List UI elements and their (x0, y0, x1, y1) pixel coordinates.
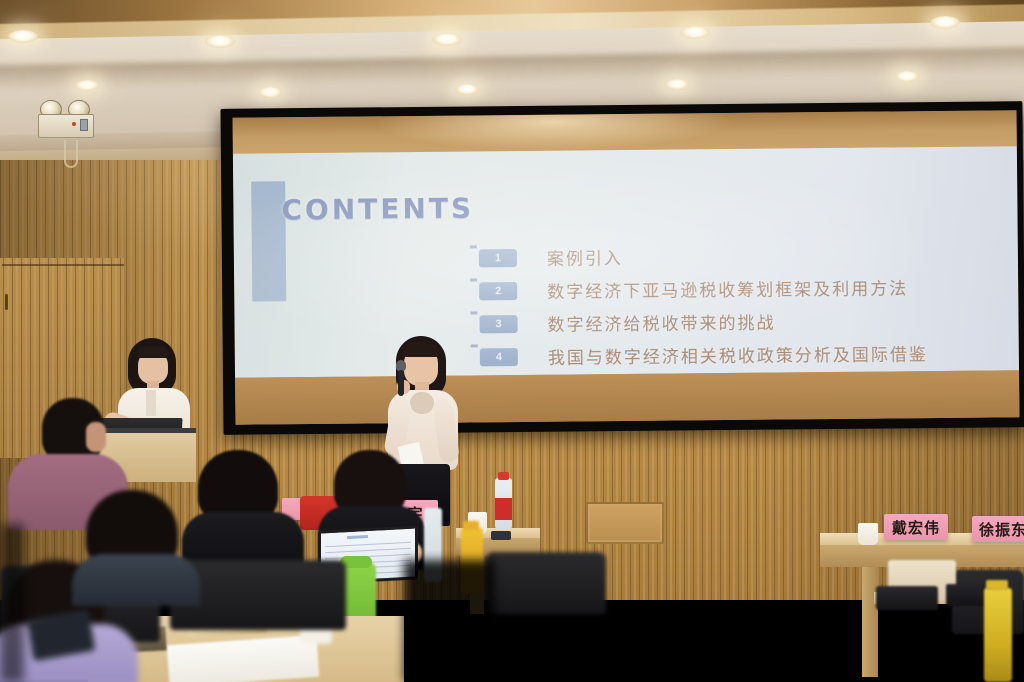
downlight-icon (75, 80, 99, 91)
emergency-test-switch[interactable] (80, 119, 88, 131)
tea-bottle-cap (986, 580, 1008, 590)
emergency-led-indicator (72, 122, 76, 126)
spreadsheet-header-cell (347, 535, 368, 539)
operator-placket (146, 390, 156, 416)
downlight-icon (930, 16, 960, 29)
slide-light-vignette (233, 146, 1019, 378)
equipment-case (876, 586, 938, 610)
door-handle[interactable] (5, 294, 8, 310)
paper-cup (858, 523, 878, 545)
chair[interactable] (486, 552, 606, 614)
slide-bottom-spill (235, 370, 1019, 425)
downlight-icon (895, 71, 919, 82)
name-card: 戴宏伟 (884, 514, 948, 540)
emergency-power-cord (64, 140, 78, 168)
microphone-handle (398, 370, 404, 396)
downlight-icon (432, 33, 462, 46)
water-bottle-cap (498, 472, 509, 480)
audience-member (188, 450, 298, 570)
downlight-icon (665, 79, 689, 90)
lecture-hall-photo: CONTENTS 1 案例引入 2 数字经济下亚马逊税收筹划框架及利用方法 (0, 0, 1024, 682)
projection-surface: CONTENTS 1 案例引入 2 数字经济下亚马逊税收筹划框架及利用方法 (233, 110, 1020, 425)
audience-ear-face (86, 422, 106, 452)
downlight-icon (455, 84, 479, 95)
name-card: 徐振东 (972, 516, 1024, 542)
operator-bangs (137, 346, 169, 358)
emergency-light (38, 100, 94, 142)
shadow-floor (596, 648, 836, 682)
projection-screen: CONTENTS 1 案例引入 2 数字经济下亚马逊税收筹划框架及利用方法 (220, 101, 1024, 435)
downlight-icon (8, 30, 38, 43)
audience-member (68, 490, 200, 602)
downlight-icon (258, 87, 282, 98)
presenter-collar (410, 392, 434, 414)
mobile-phone[interactable] (491, 531, 511, 540)
presenter-bangs (402, 342, 440, 357)
audience-shirt (72, 554, 200, 606)
shadow-corner-left (0, 524, 24, 682)
tea-bottle (984, 588, 1012, 682)
table-leg-right (862, 567, 878, 677)
door-top-reveal (2, 264, 124, 266)
shadow-foreground (404, 560, 494, 682)
downlight-icon (205, 35, 235, 48)
water-bottle-label (495, 498, 512, 520)
wall-access-panel (586, 502, 664, 544)
downlight-icon (680, 26, 710, 39)
presentation-slide: CONTENTS 1 案例引入 2 数字经济下亚马逊税收筹划框架及利用方法 (233, 146, 1019, 378)
tea-bottle-cap (463, 521, 479, 530)
